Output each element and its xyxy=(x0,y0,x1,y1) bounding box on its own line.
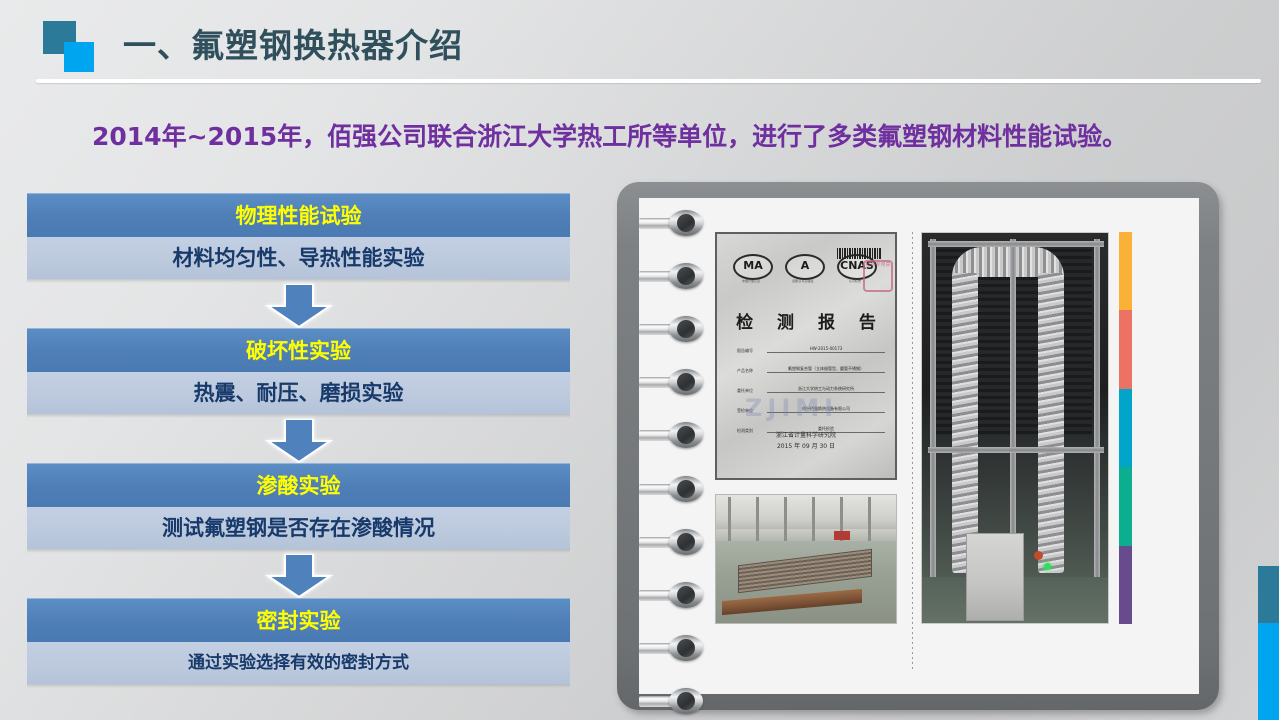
photo-collage: MA 中国计量认证 A 国家认可实验室 CNAS 认可标志 检验专用章 检 测 … xyxy=(707,228,1177,678)
document-field-row: 委托单位 浙江大学热工与动力系统研究所 xyxy=(737,382,885,393)
flow-step-header: 破坏性实验 xyxy=(27,328,570,372)
ring-loop xyxy=(669,476,703,502)
accent-bar-dark xyxy=(1258,566,1279,623)
flow-step: 物理性能试验 材料均匀性、导热性能实验 xyxy=(27,193,570,283)
title-decoration xyxy=(0,0,130,90)
document-footer-org: 浙江省计量科学研究院 xyxy=(717,430,895,441)
notebook-page: MA 中国计量认证 A 国家认可实验室 CNAS 认可标志 检验专用章 检 测 … xyxy=(639,198,1199,694)
binding-ring xyxy=(639,582,711,608)
workshop-column xyxy=(728,497,731,543)
arrow-down-icon xyxy=(260,284,338,328)
document-footer-date: 2015 年 09 月 30 日 xyxy=(717,441,895,452)
document-heading: 检 测 报 告 xyxy=(717,308,895,333)
insulated-pipe-right xyxy=(1038,273,1064,573)
factory-floor-photo xyxy=(715,494,897,624)
binding-ring xyxy=(639,316,711,342)
rig-frame-post xyxy=(930,239,936,617)
ring-loop xyxy=(669,582,703,608)
ring-loop xyxy=(669,369,703,395)
decor-square-bright xyxy=(64,42,94,72)
ring-hole xyxy=(677,639,695,657)
ring-loop xyxy=(669,263,703,289)
flow-step-body: 热震、耐压、磨损实验 xyxy=(27,372,570,414)
collage-divider xyxy=(912,232,913,672)
document-fields: 报告编号 HW-2015-00173 产品名称 氟塑钢复合管（立体翅管型、圆管不… xyxy=(737,342,885,442)
color-strip-band-0 xyxy=(1119,232,1132,310)
field-value: 氟塑钢复合管（立体翅管型、圆管不锈钢） xyxy=(767,367,885,373)
flow-step-body: 测试氟塑钢是否存在渗酸情况 xyxy=(27,507,570,549)
color-strip-band-3 xyxy=(1119,467,1132,545)
color-strip-band-1 xyxy=(1119,310,1132,388)
accent-bar-bright xyxy=(1258,623,1279,720)
flow-step-body: 材料均匀性、导热性能实验 xyxy=(27,237,570,279)
ring-loop xyxy=(669,422,703,448)
flow-step-body: 通过实验选择有效的密封方式 xyxy=(27,642,570,684)
document-watermark: ZJIMI xyxy=(745,394,838,422)
binding-ring xyxy=(639,476,711,502)
workshop-column xyxy=(784,497,787,543)
flow-step-shadow xyxy=(27,414,570,418)
ring-loop xyxy=(669,529,703,555)
notebook-frame: MA 中国计量认证 A 国家认可实验室 CNAS 认可标志 检验专用章 检 测 … xyxy=(617,182,1219,710)
title-divider xyxy=(36,79,1261,83)
flow-step-header: 渗酸实验 xyxy=(27,463,570,507)
flow-step: 密封实验 通过实验选择有效的密封方式 xyxy=(27,598,570,688)
binding-ring xyxy=(639,635,711,661)
ring-loop xyxy=(669,316,703,342)
binding-ring xyxy=(639,688,711,714)
arrow-down-icon xyxy=(260,554,338,598)
ring-hole xyxy=(677,320,695,338)
workshop-column xyxy=(868,497,871,543)
ring-hole xyxy=(677,373,695,391)
control-cabinet xyxy=(966,533,1024,621)
binding-ring xyxy=(639,422,711,448)
flow-step-header: 物理性能试验 xyxy=(27,193,570,237)
barcode-icon xyxy=(837,248,881,259)
test-rig-photo xyxy=(921,232,1109,624)
color-strip-band-4 xyxy=(1119,546,1132,624)
ring-loop xyxy=(669,635,703,661)
ring-hole xyxy=(677,480,695,498)
ring-hole xyxy=(677,214,695,232)
ring-hole xyxy=(677,692,695,710)
test-report-photo: MA 中国计量认证 A 国家认可实验室 CNAS 认可标志 检验专用章 检 测 … xyxy=(715,232,897,480)
cma-mark-icon: MA xyxy=(733,254,773,280)
flow-step: 渗酸实验 测试氟塑钢是否存在渗酸情况 xyxy=(27,463,570,553)
flow-arrow-2 xyxy=(27,418,570,463)
ring-hole xyxy=(677,426,695,444)
workshop-column xyxy=(812,497,815,543)
flow-step-shadow xyxy=(27,684,570,688)
process-flow: 物理性能试验 材料均匀性、导热性能实验 破坏性实验 热震、耐压、磨损实验 xyxy=(27,193,570,688)
ring-loop xyxy=(669,210,703,236)
document-field-row: 产品名称 氟塑钢复合管（立体翅管型、圆管不锈钢） xyxy=(737,362,885,373)
color-strip xyxy=(1119,232,1132,624)
slide-canvas: 一、氟塑钢换热器介绍 2014年~2015年，佰强公司联合浙江大学热工所等单位，… xyxy=(0,0,1279,720)
document-field-row: 报告编号 HW-2015-00173 xyxy=(737,342,885,353)
status-led-icon xyxy=(1044,563,1051,570)
insulated-pipe-left xyxy=(952,273,978,573)
flow-step-header: 密封实验 xyxy=(27,598,570,642)
flow-step-shadow xyxy=(27,549,570,553)
cal-mark-caption: 国家认可实验室 xyxy=(783,279,823,284)
page-title: 一、氟塑钢换热器介绍 xyxy=(123,19,463,67)
document-footer: 浙江省计量科学研究院 2015 年 09 月 30 日 xyxy=(717,430,895,453)
flow-step: 破坏性实验 热震、耐压、磨损实验 xyxy=(27,328,570,418)
certification-marks: MA 中国计量认证 A 国家认可实验室 CNAS 认可标志 xyxy=(731,254,881,288)
rig-frame-rail xyxy=(928,447,1104,453)
color-strip-band-2 xyxy=(1119,389,1132,467)
ring-hole xyxy=(677,267,695,285)
field-value: 浙江大学热工与动力系统研究所 xyxy=(767,387,885,393)
cma-mark-caption: 中国计量认证 xyxy=(731,279,771,284)
field-label: 报告编号 xyxy=(737,349,767,353)
flow-arrow-1 xyxy=(27,283,570,328)
emergency-stop-icon xyxy=(1034,551,1043,560)
red-stamp-icon: 检验专用章 xyxy=(863,260,893,292)
binding-ring xyxy=(639,529,711,555)
flow-step-shadow xyxy=(27,279,570,283)
binding-ring xyxy=(639,263,711,289)
flow-arrow-3 xyxy=(27,553,570,598)
ring-hole xyxy=(677,586,695,604)
workshop-equipment xyxy=(834,531,850,540)
field-value: HW-2015-00173 xyxy=(767,347,885,353)
rig-frame-post xyxy=(1094,239,1100,617)
ring-hole xyxy=(677,533,695,551)
binding-ring xyxy=(639,210,711,236)
rig-frame-rail xyxy=(928,241,1104,247)
field-label: 委托单位 xyxy=(737,389,767,393)
cal-mark-icon: A xyxy=(785,254,825,280)
binding-ring xyxy=(639,369,711,395)
subtitle-text: 2014年~2015年，佰强公司联合浙江大学热工所等单位，进行了多类氟塑钢材料性… xyxy=(92,117,1127,153)
ring-loop xyxy=(669,688,703,714)
field-label: 产品名称 xyxy=(737,369,767,373)
workshop-column xyxy=(756,497,759,543)
spiral-binding xyxy=(639,210,711,710)
arrow-down-icon xyxy=(260,419,338,463)
